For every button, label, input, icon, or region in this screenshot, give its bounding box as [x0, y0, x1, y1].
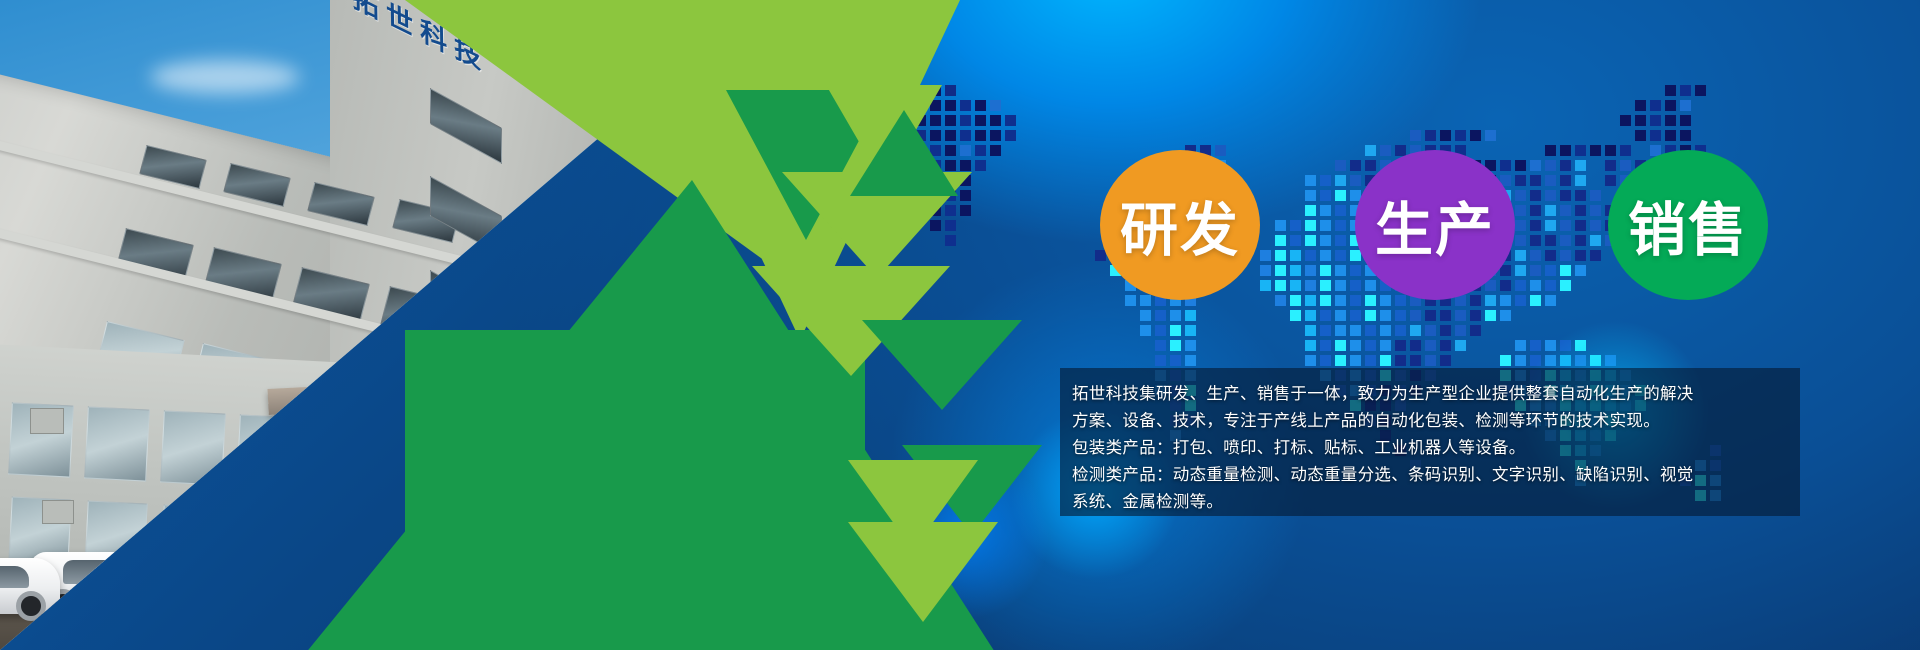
map-dot — [1170, 310, 1181, 321]
map-dot — [1590, 190, 1601, 201]
map-dot — [1350, 355, 1361, 366]
map-dot — [1575, 160, 1586, 171]
map-dot — [1455, 340, 1466, 351]
map-dot — [1545, 265, 1556, 276]
map-dot — [1545, 205, 1556, 216]
map-dot — [1260, 250, 1271, 261]
map-dot — [1560, 265, 1571, 276]
map-dot — [1500, 160, 1511, 171]
map-dot — [1680, 130, 1691, 141]
badge-sales[interactable]: 销售 — [1608, 150, 1768, 300]
map-dot — [1335, 325, 1346, 336]
map-dot — [1350, 280, 1361, 291]
map-dot — [1515, 160, 1526, 171]
map-dot — [945, 220, 956, 231]
cloud-1 — [150, 60, 300, 94]
dark-green-mass-2 — [405, 330, 865, 650]
map-dot — [1440, 130, 1451, 141]
map-dot — [945, 85, 956, 96]
map-dot — [1410, 355, 1421, 366]
map-dot — [990, 145, 1001, 156]
map-dot — [1500, 295, 1511, 306]
map-dot — [1470, 130, 1481, 141]
map-dot — [1335, 235, 1346, 246]
map-dot — [930, 115, 941, 126]
map-dot — [1575, 355, 1586, 366]
map-dot — [1350, 160, 1361, 171]
description-line-2: 方案、设备、技术，专注于产线上产品的自动化包装、检测等环节的技术实现。 — [1072, 407, 1788, 434]
map-dot — [1380, 325, 1391, 336]
map-dot — [1170, 355, 1181, 366]
map-dot — [990, 115, 1001, 126]
map-dot — [1560, 205, 1571, 216]
map-dot — [1350, 310, 1361, 321]
map-dot — [1275, 220, 1286, 231]
map-dot — [1530, 220, 1541, 231]
map-dot — [1335, 190, 1346, 201]
map-dot — [1320, 340, 1331, 351]
map-dot — [1575, 205, 1586, 216]
map-dot — [1335, 310, 1346, 321]
map-dot — [990, 130, 1001, 141]
map-dot — [1365, 280, 1376, 291]
map-dot — [1515, 205, 1526, 216]
map-dot — [1305, 250, 1316, 261]
map-dot — [1590, 205, 1601, 216]
map-dot — [945, 130, 956, 141]
map-dot — [975, 160, 986, 171]
map-dot — [1680, 85, 1691, 96]
map-dot — [1530, 265, 1541, 276]
map-dot — [1575, 340, 1586, 351]
description-line-3: 包装类产品：打包、喷印、打标、贴标、工业机器人等设备。 — [1072, 434, 1788, 461]
map-dot — [1410, 325, 1421, 336]
map-dot — [1650, 130, 1661, 141]
map-dot — [1560, 340, 1571, 351]
map-dot — [1425, 310, 1436, 321]
map-dot — [1320, 205, 1331, 216]
map-dot — [1470, 310, 1481, 321]
map-dot — [1575, 175, 1586, 186]
map-dot — [1455, 130, 1466, 141]
map-dot — [1350, 325, 1361, 336]
map-dot — [1305, 355, 1316, 366]
map-dot — [1350, 340, 1361, 351]
map-dot — [1560, 250, 1571, 261]
map-dot — [1365, 160, 1376, 171]
map-dot — [930, 220, 941, 231]
map-dot — [1500, 280, 1511, 291]
map-dot — [960, 190, 971, 201]
map-dot — [1515, 340, 1526, 351]
map-dot — [1485, 310, 1496, 321]
map-dot — [1455, 310, 1466, 321]
map-dot — [1140, 310, 1151, 321]
map-dot — [1545, 355, 1556, 366]
map-dot — [1575, 220, 1586, 231]
map-dot — [1545, 295, 1556, 306]
map-dot — [1275, 265, 1286, 276]
map-dot — [1530, 175, 1541, 186]
map-dot — [1335, 205, 1346, 216]
map-dot — [1425, 130, 1436, 141]
description-line-5: 系统、金属检测等。 — [1072, 488, 1788, 515]
map-dot — [1500, 310, 1511, 321]
map-dot — [1275, 280, 1286, 291]
map-dot — [975, 145, 986, 156]
map-dot — [1290, 310, 1301, 321]
map-dot — [1575, 265, 1586, 276]
map-dot — [1350, 175, 1361, 186]
map-dot — [1350, 265, 1361, 276]
map-dot — [1440, 340, 1451, 351]
map-dot — [1605, 355, 1616, 366]
map-dot — [1530, 295, 1541, 306]
map-dot — [1560, 175, 1571, 186]
map-dot — [1590, 145, 1601, 156]
map-dot — [1515, 250, 1526, 261]
map-dot — [975, 130, 986, 141]
map-dot — [945, 235, 956, 246]
map-dot — [1170, 340, 1181, 351]
map-dot — [1305, 220, 1316, 231]
badge-rd[interactable]: 研发 — [1100, 150, 1260, 300]
map-dot — [1305, 265, 1316, 276]
map-dot — [1380, 340, 1391, 351]
map-dot — [1305, 310, 1316, 321]
map-dot — [1515, 190, 1526, 201]
map-dot — [945, 115, 956, 126]
car-window — [0, 566, 29, 588]
map-dot — [1530, 190, 1541, 201]
map-dot — [1305, 175, 1316, 186]
map-dot — [1395, 355, 1406, 366]
map-dot — [1560, 160, 1571, 171]
map-dot — [1440, 325, 1451, 336]
map-dot — [1005, 130, 1016, 141]
map-dot — [1335, 355, 1346, 366]
map-dot — [1575, 250, 1586, 261]
map-dot — [1545, 250, 1556, 261]
map-dot — [1485, 295, 1496, 306]
map-dot — [1320, 190, 1331, 201]
map-dot — [1530, 205, 1541, 216]
map-dot — [1545, 340, 1556, 351]
map-dot — [1515, 265, 1526, 276]
map-dot — [1515, 175, 1526, 186]
map-dot — [1365, 295, 1376, 306]
map-dot — [1545, 280, 1556, 291]
map-dot — [1665, 130, 1676, 141]
map-dot — [1440, 310, 1451, 321]
map-dot — [1320, 220, 1331, 231]
map-dot — [930, 130, 941, 141]
map-dot — [1455, 325, 1466, 336]
map-dot — [1530, 340, 1541, 351]
map-dot — [1170, 325, 1181, 336]
map-dot — [1440, 355, 1451, 366]
map-dot — [1260, 280, 1271, 291]
map-dot — [1560, 235, 1571, 246]
map-dot — [1560, 190, 1571, 201]
badge-production[interactable]: 生产 — [1355, 150, 1515, 300]
map-dot — [1290, 265, 1301, 276]
map-dot — [990, 100, 1001, 111]
map-dot — [1590, 250, 1601, 261]
map-dot — [1140, 295, 1151, 306]
map-dot — [1320, 355, 1331, 366]
map-dot — [1545, 235, 1556, 246]
map-dot — [1515, 355, 1526, 366]
map-dot — [1365, 355, 1376, 366]
map-dot — [1395, 340, 1406, 351]
map-dot — [1320, 295, 1331, 306]
map-dot — [1590, 355, 1601, 366]
map-dot — [1605, 160, 1616, 171]
map-dot — [1155, 310, 1166, 321]
map-dot — [1380, 355, 1391, 366]
map-dot — [945, 145, 956, 156]
map-dot — [1665, 85, 1676, 96]
map-dot — [1545, 220, 1556, 231]
map-dot — [1410, 310, 1421, 321]
badge-rd-label: 研发 — [1120, 183, 1240, 267]
map-dot — [1515, 280, 1526, 291]
map-dot — [975, 115, 986, 126]
map-dot — [1575, 145, 1586, 156]
map-dot — [960, 115, 971, 126]
map-dot — [1305, 295, 1316, 306]
map-dot — [1410, 340, 1421, 351]
map-dot — [1335, 295, 1346, 306]
map-dot — [1320, 235, 1331, 246]
map-dot — [1680, 115, 1691, 126]
map-dot — [1275, 235, 1286, 246]
description-line-1: 拓世科技集研发、生产、销售于一体，致力为生产型企业提供整套自动化生产的解决 — [1072, 380, 1788, 407]
map-dot — [1320, 250, 1331, 261]
map-dot — [1185, 325, 1196, 336]
map-dot — [1425, 340, 1436, 351]
map-dot — [1560, 355, 1571, 366]
map-dot — [945, 205, 956, 216]
map-dot — [1605, 175, 1616, 186]
map-dot — [1005, 115, 1016, 126]
map-dot — [1425, 355, 1436, 366]
map-dot — [1290, 235, 1301, 246]
map-dot — [1305, 205, 1316, 216]
air-conditioner — [42, 500, 74, 524]
map-dot — [1380, 310, 1391, 321]
map-dot — [1620, 145, 1631, 156]
map-dot — [1305, 190, 1316, 201]
map-dot — [1335, 265, 1346, 276]
map-dot — [1680, 100, 1691, 111]
map-dot — [1125, 295, 1136, 306]
map-dot — [1635, 115, 1646, 126]
map-dot — [1305, 235, 1316, 246]
map-dot — [1590, 235, 1601, 246]
map-dot — [960, 100, 971, 111]
map-dot — [1635, 130, 1646, 141]
map-dot — [960, 130, 971, 141]
map-dot — [1290, 295, 1301, 306]
parked-car-2 — [0, 558, 60, 614]
map-dot — [1335, 160, 1346, 171]
map-dot — [1560, 280, 1571, 291]
map-dot — [1575, 235, 1586, 246]
map-dot — [1365, 325, 1376, 336]
map-dot — [1665, 100, 1676, 111]
company-hero-banner: 拓世科技 — [0, 0, 1920, 650]
map-dot — [1575, 190, 1586, 201]
map-dot — [1620, 115, 1631, 126]
map-dot — [1350, 295, 1361, 306]
map-dot — [1290, 220, 1301, 231]
map-dot — [1155, 355, 1166, 366]
map-dot — [1320, 265, 1331, 276]
description-line-4: 检测类产品：动态重量检测、动态重量分选、条码识别、文字识别、缺陷识别、视觉 — [1072, 461, 1788, 488]
map-dot — [1470, 295, 1481, 306]
map-dot — [1290, 250, 1301, 261]
map-dot — [945, 100, 956, 111]
map-dot — [1410, 130, 1421, 141]
facade-window — [84, 406, 150, 481]
map-dot — [1335, 340, 1346, 351]
map-dot — [1530, 250, 1541, 261]
map-dot — [1560, 145, 1571, 156]
map-dot — [975, 100, 986, 111]
map-dot — [1395, 310, 1406, 321]
map-dot — [1215, 145, 1226, 156]
map-dot — [1560, 220, 1571, 231]
map-dot — [1500, 265, 1511, 276]
map-dot — [1545, 175, 1556, 186]
badge-production-label: 生产 — [1375, 183, 1495, 267]
map-dot — [1665, 115, 1676, 126]
map-dot — [1290, 280, 1301, 291]
map-dot — [960, 145, 971, 156]
map-dot — [1395, 325, 1406, 336]
map-dot — [1650, 100, 1661, 111]
map-dot — [1590, 220, 1601, 231]
map-dot — [1515, 220, 1526, 231]
map-dot — [1515, 295, 1526, 306]
map-dot — [1275, 250, 1286, 261]
map-dot — [1530, 160, 1541, 171]
map-dot — [1320, 310, 1331, 321]
map-dot — [1335, 175, 1346, 186]
map-dot — [1545, 190, 1556, 201]
map-dot — [1530, 355, 1541, 366]
map-dot — [1140, 325, 1151, 336]
map-dot — [1395, 295, 1406, 306]
map-dot — [1260, 265, 1271, 276]
map-dot — [960, 205, 971, 216]
map-dot — [1320, 175, 1331, 186]
map-dot — [1335, 280, 1346, 291]
map-dot — [1365, 310, 1376, 321]
map-dot — [1365, 340, 1376, 351]
map-dot — [1605, 145, 1616, 156]
map-dot — [1155, 325, 1166, 336]
map-dot — [1545, 160, 1556, 171]
badge-sales-label: 销售 — [1628, 183, 1748, 267]
map-dot — [1275, 295, 1286, 306]
map-dot — [1470, 325, 1481, 336]
map-dot — [1335, 250, 1346, 261]
map-dot — [1305, 325, 1316, 336]
map-dot — [945, 160, 956, 171]
map-dot — [1185, 355, 1196, 366]
map-dot — [1365, 145, 1376, 156]
map-dot — [1380, 145, 1391, 156]
map-dot — [1305, 340, 1316, 351]
map-dot — [1695, 85, 1706, 96]
map-dot — [1380, 295, 1391, 306]
map-dot — [1155, 340, 1166, 351]
description-panel: 拓世科技集研发、生产、销售于一体，致力为生产型企业提供整套自动化生产的解决 方案… — [1072, 380, 1788, 515]
map-dot — [1185, 310, 1196, 321]
map-dot — [1500, 355, 1511, 366]
map-dot — [1425, 325, 1436, 336]
map-dot — [1545, 145, 1556, 156]
map-dot — [1635, 100, 1646, 111]
map-dot — [1320, 325, 1331, 336]
map-dot — [1620, 160, 1631, 171]
map-dot — [1515, 235, 1526, 246]
map-dot — [1305, 280, 1316, 291]
map-dot — [1320, 280, 1331, 291]
map-dot — [1530, 235, 1541, 246]
air-conditioner — [30, 408, 64, 434]
map-dot — [1530, 280, 1541, 291]
map-dot — [1335, 220, 1346, 231]
map-dot — [1185, 340, 1196, 351]
map-dot — [1650, 115, 1661, 126]
map-dot — [960, 160, 971, 171]
map-dot — [1485, 130, 1496, 141]
